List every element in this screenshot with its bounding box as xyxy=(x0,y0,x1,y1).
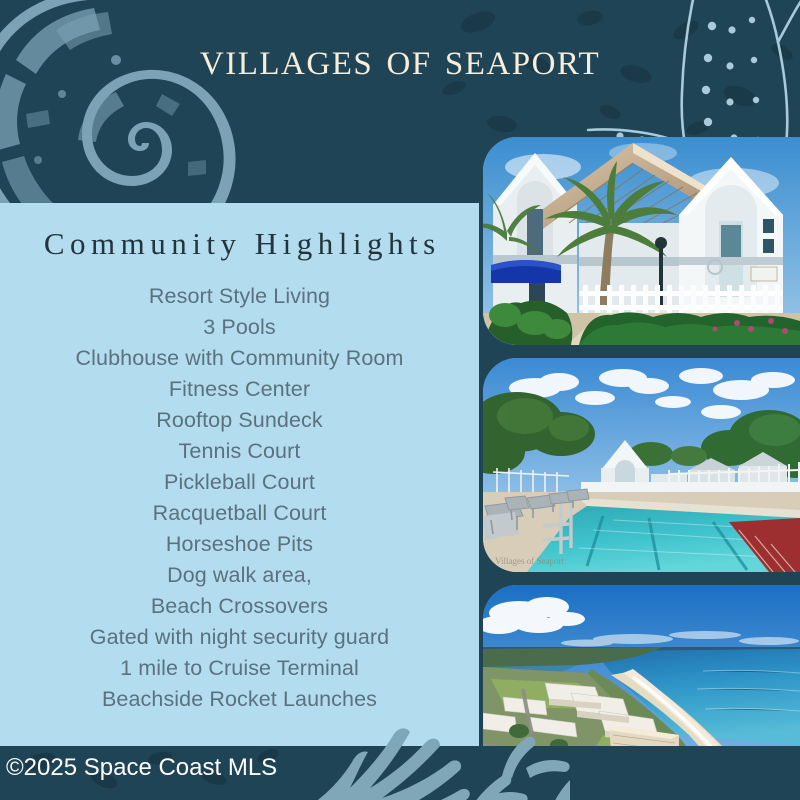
list-item: Gated with night security guard xyxy=(6,622,473,653)
list-item: Rooftop Sundeck xyxy=(6,405,473,436)
page-title: Villages of Seaport xyxy=(0,34,800,85)
list-item: Horseshoe Pits xyxy=(6,529,473,560)
highlights-list: Resort Style Living 3 Pools Clubhouse wi… xyxy=(0,261,479,715)
list-item: Beach Crossovers xyxy=(6,591,473,622)
list-item: Fitness Center xyxy=(6,374,473,405)
list-item: Dog walk area, xyxy=(6,560,473,591)
list-item: Resort Style Living xyxy=(6,281,473,312)
list-item: Racquetball Court xyxy=(6,498,473,529)
photo-clubhouse-exterior xyxy=(483,137,800,345)
clubhouse-exterior-image xyxy=(483,137,800,345)
list-item: 1 mile to Cruise Terminal xyxy=(6,653,473,684)
property-flyer: Community Highlights Resort Style Living… xyxy=(0,0,800,800)
community-lap-pool-image: Villages of Seaport xyxy=(483,358,800,572)
list-item: 3 Pools xyxy=(6,312,473,343)
svg-text:Villages of Seaport: Villages of Seaport xyxy=(495,556,564,566)
list-item: Pickleball Court xyxy=(6,467,473,498)
copyright-text: ©2025 Space Coast MLS xyxy=(6,754,277,782)
community-highlights-panel: Community Highlights Resort Style Living… xyxy=(0,203,479,746)
list-item: Tennis Court xyxy=(6,436,473,467)
list-item: Beachside Rocket Launches xyxy=(6,684,473,715)
list-item: Clubhouse with Community Room xyxy=(6,343,473,374)
highlights-heading: Community Highlights xyxy=(0,203,479,261)
photo-community-lap-pool: Villages of Seaport xyxy=(483,358,800,572)
